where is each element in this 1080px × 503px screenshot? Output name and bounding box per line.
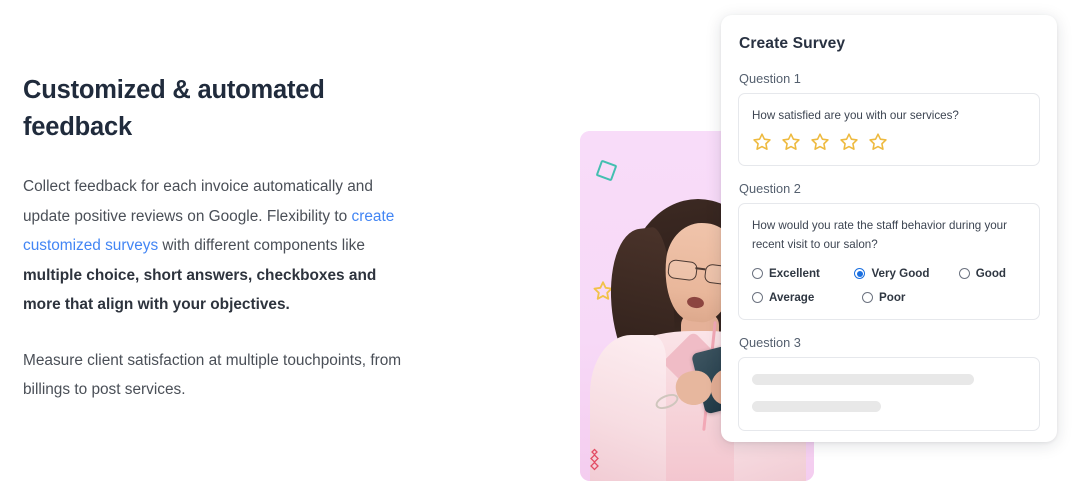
option-good[interactable]: Good [959,267,1006,280]
question-3-label: Question 3 [739,335,1040,350]
star-icon-5[interactable] [868,132,888,152]
placeholder-bar-1 [752,374,974,385]
radio-average[interactable] [752,292,763,303]
page-title: Customized & automated feedback [23,72,373,146]
radio-poor[interactable] [862,292,873,303]
question-2-options: Excellent Very Good Good Average [752,267,1026,304]
radio-excellent[interactable] [752,268,763,279]
option-poor-label: Poor [879,291,905,304]
paragraph-text-bold: multiple choice, short answers, checkbox… [23,267,376,314]
option-row-2: Average Poor [752,291,1026,304]
feature-paragraph-secondary: Measure client satisfaction at multiple … [23,346,417,405]
question-2-label: Question 2 [739,181,1040,196]
radio-good[interactable] [959,268,970,279]
question-2-text: How would you rate the staff behavior du… [752,216,1026,254]
option-excellent[interactable]: Excellent [752,267,834,280]
question-2-box[interactable]: How would you rate the staff behavior du… [738,203,1040,320]
star-icon-2[interactable] [781,132,801,152]
question-1-box[interactable]: How satisfied are you with our services? [738,93,1040,166]
question-1-text: How satisfied are you with our services? [752,106,1026,125]
option-average[interactable]: Average [752,291,842,304]
blazer-left [590,335,666,481]
option-very-good[interactable]: Very Good [854,267,938,280]
option-average-label: Average [769,291,814,304]
radio-very-good[interactable] [854,268,865,279]
star-icon-4[interactable] [839,132,859,152]
question-1-label: Question 1 [739,71,1040,86]
option-poor[interactable]: Poor [862,291,905,304]
feature-text-column: Customized & automated feedback Collect … [23,72,423,405]
paragraph-text-part-2: with different components like [158,237,365,254]
placeholder-bar-2 [752,401,881,412]
option-excellent-label: Excellent [769,267,820,280]
survey-card-title: Create Survey [739,35,1040,53]
star-rating-control[interactable] [752,132,1026,152]
star-icon-1[interactable] [752,132,772,152]
question-3-box[interactable] [738,357,1040,431]
option-very-good-label: Very Good [871,267,929,280]
watermark-logo [589,448,600,472]
option-row-1: Excellent Very Good Good [752,267,1026,280]
paragraph-text-part-1: Collect feedback for each invoice automa… [23,178,373,225]
star-icon-3[interactable] [810,132,830,152]
option-good-label: Good [976,267,1006,280]
create-survey-card: Create Survey Question 1 How satisfied a… [721,15,1057,442]
feature-paragraph-primary: Collect feedback for each invoice automa… [23,172,417,320]
glasses-lens-left [667,259,698,281]
